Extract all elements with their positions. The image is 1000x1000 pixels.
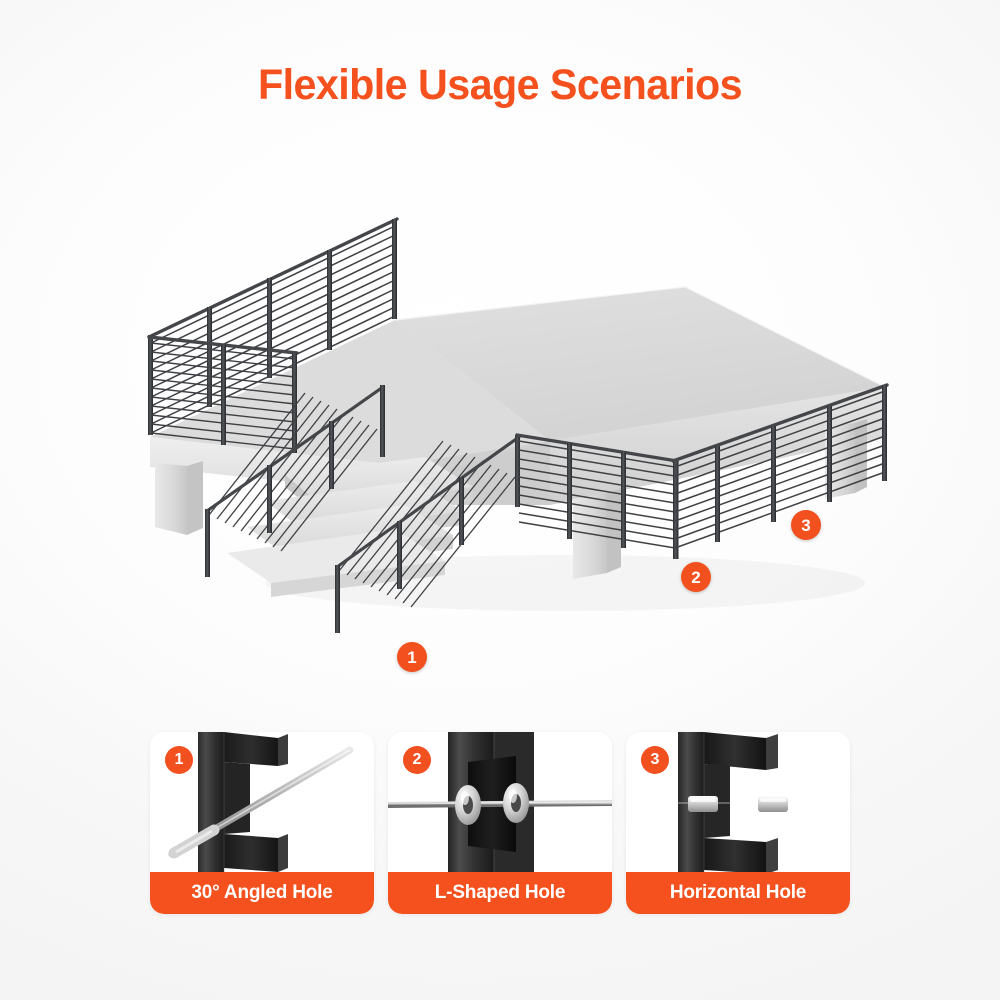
feature-card-l-shaped-hole[interactable]: 2 L-Shaped Hole [388, 732, 612, 914]
deck-3d-render [95, 175, 915, 635]
hero-illustration: 1 2 3 [95, 175, 915, 635]
post-flange-edge-top [766, 734, 778, 770]
ferrule-right [758, 796, 788, 812]
railing-post [567, 443, 572, 539]
feature-cards: 1 30° Angled Hole [150, 732, 850, 914]
stair-post [459, 477, 464, 545]
hero-callout-2: 2 [681, 562, 711, 592]
railing-toprail-back [149, 219, 397, 337]
post-bottom-flange [224, 834, 278, 872]
stair-post [205, 509, 210, 577]
railing-post [827, 406, 832, 502]
deck-side-rail-post [715, 446, 720, 542]
railing-post [327, 250, 332, 350]
railing-post [882, 385, 887, 481]
stair-post [335, 565, 340, 633]
l-fitting-right [503, 783, 529, 823]
post-top-flange [224, 732, 278, 766]
ferrule-left [688, 796, 718, 812]
railing-post [292, 353, 297, 453]
post-flange-edge-bottom [766, 838, 778, 874]
post-top-flange [704, 732, 766, 770]
stair-post [380, 385, 385, 457]
card-badge-1: 1 [165, 746, 193, 774]
card-label-angled-hole: 30° Angled Hole [150, 872, 374, 914]
railing-post [267, 278, 272, 378]
post-bottom-flange [704, 838, 766, 874]
page-title: Flexible Usage Scenarios [20, 62, 980, 108]
stair-post [329, 421, 334, 489]
l-fitting-left [455, 785, 481, 825]
card-badge-2: 2 [403, 746, 431, 774]
railing-post [148, 335, 153, 435]
stair-post [397, 521, 402, 589]
post-flange-edge-bottom [278, 834, 288, 872]
railing-post [771, 426, 776, 522]
hero-callout-3: 3 [791, 510, 821, 540]
card-badge-3: 3 [641, 746, 669, 774]
card-label-horizontal-hole: Horizontal Hole [626, 872, 850, 914]
railing-post [221, 345, 226, 445]
stair-post [267, 465, 272, 533]
hero-callout-1: 1 [397, 642, 427, 672]
railing-post [207, 307, 212, 407]
post-flange-edge-top [278, 734, 288, 766]
railing-post [392, 219, 397, 319]
horizontal-cable [388, 802, 612, 805]
deck-leg-left [155, 463, 187, 535]
feature-card-horizontal-hole[interactable]: 3 Horizontal Hole [626, 732, 850, 914]
horizontal-cable [626, 803, 850, 804]
post-left-web [198, 732, 224, 877]
railing-post [621, 452, 626, 548]
stair-post [515, 435, 520, 507]
card-label-l-shaped-hole: L-Shaped Hole [388, 872, 612, 914]
title-container: Flexible Usage Scenarios [0, 62, 1000, 108]
feature-card-angled-hole[interactable]: 1 30° Angled Hole [150, 732, 374, 914]
deck-leg-left-side [187, 461, 203, 535]
